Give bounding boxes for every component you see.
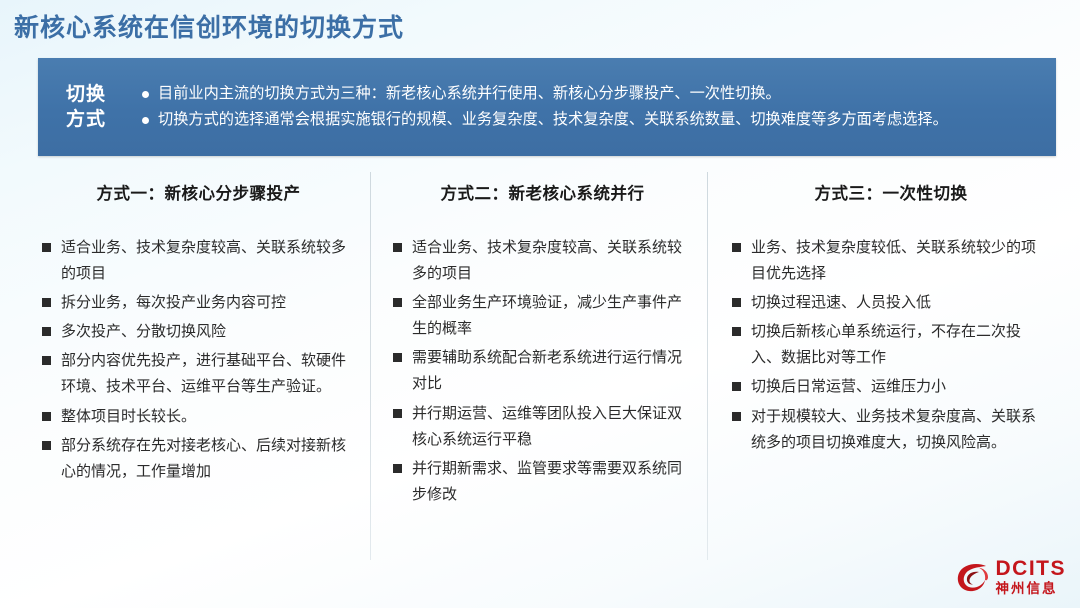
list-item-text: 部分内容优先投产，进行基础平台、软硬件环境、技术平台、运维平台等生产验证。	[61, 348, 355, 400]
list-item-text: 多次投产、分散切换风险	[61, 319, 355, 345]
square-bullet-icon	[42, 356, 51, 365]
list-item-text: 切换后新核心单系统运行，不存在二次投入、数据比对等工作	[751, 319, 1050, 371]
list-item-text: 整体项目时长较长。	[61, 404, 355, 430]
column-heading: 方式一：新核心分步骤投产	[42, 180, 355, 204]
list-item: 拆分业务，每次投产业务内容可控	[42, 290, 355, 316]
logo-chinese-text: 神州信息	[996, 581, 1067, 598]
list-item: 切换后新核心单系统运行，不存在二次投入、数据比对等工作	[732, 319, 1050, 371]
bullet-dot-icon	[142, 91, 149, 98]
square-bullet-icon	[42, 412, 51, 421]
square-bullet-icon	[42, 298, 51, 307]
list-item-text: 并行期运营、运维等团队投入巨大保证双核心系统运行平稳	[412, 401, 692, 453]
list-item: 多次投产、分散切换风险	[42, 319, 355, 345]
square-bullet-icon	[732, 382, 741, 391]
logo-wordmark: DCITS 神州信息	[996, 558, 1067, 598]
list-item-text: 并行期新需求、监管要求等需要双系统同步修改	[412, 456, 692, 508]
square-bullet-icon	[42, 243, 51, 252]
list-item: 业务、技术复杂度较低、关联系统较少的项目优先选择	[732, 235, 1050, 287]
company-logo: DCITS 神州信息	[955, 558, 1067, 598]
list-item: 适合业务、技术复杂度较高、关联系统较多的项目	[393, 235, 692, 287]
list-item: 对于规模较大、业务技术复杂度高、关联系统多的项目切换难度大，切换风险高。	[732, 404, 1050, 456]
square-bullet-icon	[732, 298, 741, 307]
square-bullet-icon	[393, 243, 402, 252]
square-bullet-icon	[393, 464, 402, 473]
column-heading: 方式三：一次性切换	[732, 180, 1050, 204]
list-item: 切换过程迅速、人员投入低	[732, 290, 1050, 316]
list-item: 部分内容优先投产，进行基础平台、软硬件环境、技术平台、运维平台等生产验证。	[42, 348, 355, 400]
column-method-three: 方式三：一次性切换 业务、技术复杂度较低、关联系统较少的项目优先选择 切换过程迅…	[708, 172, 1060, 564]
list-item-text: 切换后日常运营、运维压力小	[751, 374, 1050, 400]
square-bullet-icon	[393, 353, 402, 362]
list-item-text: 切换过程迅速、人员投入低	[751, 290, 1050, 316]
square-bullet-icon	[393, 298, 402, 307]
list-item-text: 拆分业务，每次投产业务内容可控	[61, 290, 355, 316]
banner-bullet-item: 切换方式的选择通常会根据实施银行的规模、业务复杂度、技术复杂度、关联系统数量、切…	[142, 108, 1038, 133]
list-item: 整体项目时长较长。	[42, 404, 355, 430]
list-item: 全部业务生产环境验证，减少生产事件产生的概率	[393, 290, 692, 342]
banner-label-line1: 切换	[66, 82, 106, 107]
list-item: 需要辅助系统配合新老系统进行运行情况对比	[393, 345, 692, 397]
square-bullet-icon	[732, 412, 741, 421]
banner-bullet-text: 切换方式的选择通常会根据实施银行的规模、业务复杂度、技术复杂度、关联系统数量、切…	[158, 108, 1038, 133]
banner-bullet-text: 目前业内主流的切换方式为三种：新老核心系统并行使用、新核心分步骤投产、一次性切换…	[158, 82, 1038, 107]
list-item-text: 对于规模较大、业务技术复杂度高、关联系统多的项目切换难度大，切换风险高。	[751, 404, 1050, 456]
bullet-list: 业务、技术复杂度较低、关联系统较少的项目优先选择 切换过程迅速、人员投入低 切换…	[732, 235, 1050, 456]
square-bullet-icon	[732, 327, 741, 336]
square-bullet-icon	[42, 327, 51, 336]
dcits-swoosh-icon	[955, 561, 991, 595]
bullet-list: 适合业务、技术复杂度较高、关联系统较多的项目 全部业务生产环境验证，减少生产事件…	[393, 235, 692, 508]
column-method-one: 方式一：新核心分步骤投产 适合业务、技术复杂度较高、关联系统较多的项目 拆分业务…	[30, 172, 371, 564]
square-bullet-icon	[42, 441, 51, 450]
banner-body: 目前业内主流的切换方式为三种：新老核心系统并行使用、新核心分步骤投产、一次性切换…	[134, 58, 1056, 156]
banner-bullet-item: 目前业内主流的切换方式为三种：新老核心系统并行使用、新核心分步骤投产、一次性切换…	[142, 82, 1038, 107]
list-item-text: 需要辅助系统配合新老系统进行运行情况对比	[412, 345, 692, 397]
bullet-dot-icon	[142, 117, 149, 124]
banner-label-line2: 方式	[66, 107, 106, 132]
list-item-text: 部分系统存在先对接老核心、后续对接新核心的情况，工作量增加	[61, 433, 355, 485]
list-item-text: 适合业务、技术复杂度较高、关联系统较多的项目	[412, 235, 692, 287]
square-bullet-icon	[393, 409, 402, 418]
slide-canvas: 新核心系统在信创环境的切换方式 切换 方式 目前业内主流的切换方式为三种：新老核…	[0, 0, 1080, 608]
column-heading: 方式二：新老核心系统并行	[393, 180, 692, 204]
column-method-two: 方式二：新老核心系统并行 适合业务、技术复杂度较高、关联系统较多的项目 全部业务…	[371, 172, 708, 564]
list-item: 并行期新需求、监管要求等需要双系统同步修改	[393, 456, 692, 508]
list-item-text: 业务、技术复杂度较低、关联系统较少的项目优先选择	[751, 235, 1050, 287]
list-item: 切换后日常运营、运维压力小	[732, 374, 1050, 400]
page-title: 新核心系统在信创环境的切换方式	[14, 8, 404, 44]
list-item-text: 全部业务生产环境验证，减少生产事件产生的概率	[412, 290, 692, 342]
banner-label: 切换 方式	[38, 58, 134, 156]
list-item: 部分系统存在先对接老核心、后续对接新核心的情况，工作量增加	[42, 433, 355, 485]
comparison-columns: 方式一：新核心分步骤投产 适合业务、技术复杂度较高、关联系统较多的项目 拆分业务…	[30, 172, 1060, 564]
list-item: 并行期运营、运维等团队投入巨大保证双核心系统运行平稳	[393, 401, 692, 453]
square-bullet-icon	[732, 243, 741, 252]
summary-banner: 切换 方式 目前业内主流的切换方式为三种：新老核心系统并行使用、新核心分步骤投产…	[38, 58, 1056, 156]
bullet-list: 适合业务、技术复杂度较高、关联系统较多的项目 拆分业务，每次投产业务内容可控 多…	[42, 235, 355, 485]
logo-english-text: DCITS	[996, 558, 1067, 579]
list-item: 适合业务、技术复杂度较高、关联系统较多的项目	[42, 235, 355, 287]
list-item-text: 适合业务、技术复杂度较高、关联系统较多的项目	[61, 235, 355, 287]
